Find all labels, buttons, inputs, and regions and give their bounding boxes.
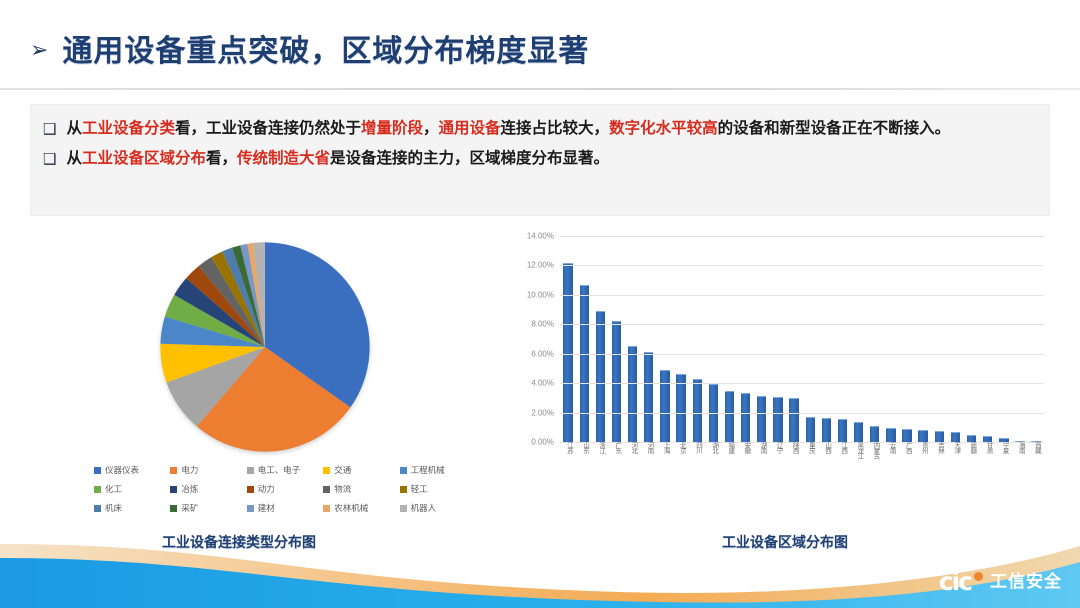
- bar-slot: [625, 236, 641, 442]
- legend-label: 化工: [105, 483, 122, 495]
- bar-slot: [673, 236, 689, 442]
- bar[interactable]: [628, 346, 637, 442]
- legend-swatch-icon: [400, 486, 407, 493]
- bar[interactable]: [741, 393, 750, 442]
- bullet-text: 从工业设备分类看，工业设备连接仍然处于增量阶段，通用设备连接占比较大，数字化水平…: [66, 117, 950, 141]
- legend-swatch-icon: [247, 467, 254, 474]
- gridline: 4.00%: [560, 383, 1044, 384]
- legend-swatch-icon: [323, 486, 330, 493]
- bar-slot: [818, 236, 834, 442]
- x-axis-tick-label: 黑龙江: [855, 442, 862, 464]
- x-axis-label-slot: 湖北: [705, 442, 721, 464]
- legend-label: 采矿: [181, 502, 198, 514]
- x-axis-tick-label: 天津: [952, 442, 959, 464]
- legend-label: 冶炼: [181, 483, 198, 495]
- bar-slot: [1028, 236, 1044, 442]
- bar-slot: [867, 236, 883, 442]
- x-axis-tick-label: 辽宁: [775, 442, 782, 464]
- bullet-highlight: 增量阶段: [361, 120, 423, 137]
- bar-slot: [964, 236, 980, 442]
- logo-name: 工信安全: [990, 573, 1062, 590]
- bullet-plain: 看，工业设备连接仍然处于: [175, 120, 361, 137]
- bullet-item: ❑从工业设备分类看，工业设备连接仍然处于增量阶段，通用设备连接占比较大，数字化水…: [43, 117, 1037, 141]
- x-axis-tick-label: 海南: [1017, 442, 1024, 464]
- legend-item[interactable]: 采矿: [170, 502, 244, 514]
- legend-label: 农林机械: [334, 502, 368, 514]
- bar-slot: [754, 236, 770, 442]
- legend-item[interactable]: 动力: [247, 483, 321, 495]
- x-axis-tick-label: 湖北: [710, 442, 717, 464]
- bar[interactable]: [838, 419, 847, 442]
- x-axis-label-slot: 辽宁: [770, 442, 786, 464]
- x-axis-tick-label: 湖南: [759, 442, 766, 464]
- logo-accent-dot: [974, 572, 983, 581]
- x-axis-tick-label: 山西: [823, 442, 830, 464]
- bullet-list: ❑从工业设备分类看，工业设备连接仍然处于增量阶段，通用设备连接占比较大，数字化水…: [43, 117, 1037, 172]
- legend-swatch-icon: [247, 505, 254, 512]
- legend-swatch-icon: [400, 505, 407, 512]
- legend-item[interactable]: 物流: [323, 483, 397, 495]
- x-axis-tick-label: 福建: [726, 442, 733, 464]
- legend-swatch-icon: [94, 486, 101, 493]
- x-axis-tick-label: 江西: [839, 442, 846, 464]
- legend-swatch-icon: [323, 467, 330, 474]
- bar-slot: [576, 236, 592, 442]
- bar-chart-plot: 0.00%2.00%4.00%6.00%8.00%10.00%12.00%14.…: [560, 236, 1044, 442]
- title-divider: [0, 88, 1080, 90]
- legend-item[interactable]: 建材: [247, 502, 321, 514]
- bar-slot: [915, 236, 931, 442]
- legend-label: 轻工: [411, 483, 428, 495]
- bar-slot: [770, 236, 786, 442]
- bar[interactable]: [757, 396, 766, 442]
- x-axis-label-slot: 天津: [947, 442, 963, 464]
- legend-item[interactable]: 化工: [94, 483, 168, 495]
- legend-item[interactable]: 机器人: [400, 502, 474, 514]
- bar-slot: [947, 236, 963, 442]
- bar-chart-panel: 0.00%2.00%4.00%6.00%8.00%10.00%12.00%14.…: [500, 224, 1050, 534]
- bar-slot: [560, 236, 576, 442]
- bar-slot: [721, 236, 737, 442]
- y-axis-tick-label: 10.00%: [527, 290, 554, 299]
- x-axis-label-slot: 广东: [608, 442, 624, 464]
- x-axis-label-slot: 江西: [834, 442, 850, 464]
- bar[interactable]: [822, 418, 831, 442]
- x-axis-label-slot: 新疆: [964, 442, 980, 464]
- bullet-plain: 是设备连接的主力，区域梯度分布显著。: [330, 150, 609, 167]
- y-axis-tick-label: 4.00%: [531, 379, 554, 388]
- y-axis-tick-label: 14.00%: [527, 232, 554, 241]
- x-axis-tick-label: 广东: [613, 442, 620, 464]
- legend-item[interactable]: 机床: [94, 502, 168, 514]
- pie-chart: [150, 238, 380, 456]
- x-axis-label-slot: 河北: [625, 442, 641, 464]
- bar-slot: [786, 236, 802, 442]
- x-axis-label-slot: 广西: [899, 442, 915, 464]
- bar-slot: [1012, 236, 1028, 442]
- x-axis-label-slot: 西藏: [1028, 442, 1044, 464]
- y-axis-tick-label: 0.00%: [531, 438, 554, 447]
- bullet-plain: 连接占比较大，: [501, 120, 610, 137]
- x-axis-label-slot: 安徽: [738, 442, 754, 464]
- bar-slot: [802, 236, 818, 442]
- legend-swatch-icon: [247, 486, 254, 493]
- x-axis-label-slot: 宁夏: [996, 442, 1012, 464]
- legend-swatch-icon: [170, 467, 177, 474]
- bar[interactable]: [596, 311, 605, 442]
- bar[interactable]: [886, 428, 895, 442]
- legend-label: 物流: [334, 483, 351, 495]
- brand-logo: cic 工信安全: [939, 569, 1062, 594]
- y-axis-tick-label: 6.00%: [531, 349, 554, 358]
- x-axis-label-slot: 山东: [576, 442, 592, 464]
- x-axis-label-slot: 陕西: [786, 442, 802, 464]
- bullet-highlight: 数字化水平较高: [609, 120, 718, 137]
- x-axis-label-slot: 上海: [657, 442, 673, 464]
- x-axis-label-slot: 甘肃: [980, 442, 996, 464]
- x-axis-tick-label: 浙江: [597, 442, 604, 464]
- bar-slot: [834, 236, 850, 442]
- bar-slot: [980, 236, 996, 442]
- bar-slot: [899, 236, 915, 442]
- legend-item[interactable]: 工程机械: [400, 464, 474, 476]
- gridline: 14.00%: [560, 236, 1044, 237]
- x-axis-label-slot: 贵州: [915, 442, 931, 464]
- legend-swatch-icon: [94, 505, 101, 512]
- bar[interactable]: [918, 430, 927, 442]
- legend-item[interactable]: 电工、电子: [247, 464, 321, 476]
- legend-label: 电力: [181, 464, 198, 476]
- x-axis-label-slot: 黑龙江: [851, 442, 867, 464]
- x-axis-label-slot: 内蒙古: [867, 442, 883, 464]
- legend-item[interactable]: 农林机械: [323, 502, 397, 514]
- bar-slot: [705, 236, 721, 442]
- bar-slot: [689, 236, 705, 442]
- x-axis-label-slot: 河南: [641, 442, 657, 464]
- bullet-marker-icon: ❑: [43, 148, 56, 171]
- bar[interactable]: [580, 285, 589, 442]
- y-axis-tick-label: 12.00%: [527, 261, 554, 270]
- bar[interactable]: [563, 263, 572, 443]
- legend-label: 建材: [258, 502, 275, 514]
- bar[interactable]: [967, 435, 976, 442]
- pie-chart-panel: 仪器仪表电力电工、电子交通工程机械化工冶炼动力物流轻工机床采矿建材农林机械机器人: [30, 224, 500, 534]
- bar[interactable]: [693, 379, 702, 442]
- bullet-item: ❑从工业设备区域分布看，传统制造大省是设备连接的主力，区域梯度分布显著。: [43, 147, 1037, 171]
- bullet-highlight: 通用设备: [439, 120, 501, 137]
- legend-label: 仪器仪表: [105, 464, 139, 476]
- page-title-text: 通用设备重点突破，区域分布梯度显著: [62, 26, 589, 70]
- x-axis-label-slot: 海南: [1012, 442, 1028, 464]
- x-axis-tick-label: 内蒙古: [871, 442, 878, 464]
- bar-slot: [931, 236, 947, 442]
- legend-swatch-icon: [323, 505, 330, 512]
- bullet-plain: 的设备和新型设备正在不断接入。: [718, 120, 951, 137]
- bar[interactable]: [660, 370, 669, 442]
- bar[interactable]: [806, 417, 815, 442]
- bar[interactable]: [951, 432, 960, 442]
- pie-chart-svg: [150, 238, 380, 456]
- legend-swatch-icon: [170, 505, 177, 512]
- x-axis-tick-label: 山东: [581, 442, 588, 464]
- bar-chart-x-axis: 江苏山东浙江广东河北河南上海北京四川湖北福建安徽湖南辽宁陕西重庆山西江西黑龙江内…: [560, 442, 1044, 464]
- gridline: 8.00%: [560, 324, 1044, 325]
- legend-item[interactable]: 交通: [323, 464, 397, 476]
- bar[interactable]: [612, 321, 621, 442]
- bar[interactable]: [773, 397, 782, 442]
- bullet-highlight: 传统制造大省: [237, 150, 330, 167]
- legend-label: 电工、电子: [258, 464, 301, 476]
- bar-slot: [883, 236, 899, 442]
- x-axis-label-slot: 北京: [673, 442, 689, 464]
- legend-label: 动力: [258, 483, 275, 495]
- x-axis-tick-label: 北京: [678, 442, 685, 464]
- bar-slot: [641, 236, 657, 442]
- summary-box: ❑从工业设备分类看，工业设备连接仍然处于增量阶段，通用设备连接占比较大，数字化水…: [30, 104, 1050, 216]
- y-axis-tick-label: 8.00%: [531, 320, 554, 329]
- bar-slot: [738, 236, 754, 442]
- legend-swatch-icon: [170, 486, 177, 493]
- legend-label: 交通: [334, 464, 351, 476]
- x-axis-label-slot: 福建: [721, 442, 737, 464]
- bullet-plain: ，: [423, 120, 439, 137]
- bar[interactable]: [644, 352, 653, 442]
- page-title: ➢ 通用设备重点突破，区域分布梯度显著: [30, 26, 589, 70]
- y-axis-tick-label: 2.00%: [531, 408, 554, 417]
- x-axis-tick-label: 云南: [888, 442, 895, 464]
- x-axis-tick-label: 贵州: [920, 442, 927, 464]
- bullet-plain: 看，: [206, 150, 237, 167]
- x-axis-tick-label: 上海: [662, 442, 669, 464]
- bar-slot: [996, 236, 1012, 442]
- bullet-highlight: 工业设备区域分布: [82, 150, 206, 167]
- legend-item[interactable]: 仪器仪表: [94, 464, 168, 476]
- bar[interactable]: [854, 422, 863, 442]
- x-axis-tick-label: 陕西: [791, 442, 798, 464]
- x-axis-tick-label: 安徽: [742, 442, 749, 464]
- legend-item[interactable]: 冶炼: [170, 483, 244, 495]
- charts-area: 仪器仪表电力电工、电子交通工程机械化工冶炼动力物流轻工机床采矿建材农林机械机器人…: [30, 224, 1050, 534]
- bullet-plain: 从: [66, 120, 82, 137]
- legend-item[interactable]: 电力: [170, 464, 244, 476]
- bar-slot: [592, 236, 608, 442]
- gridline: 6.00%: [560, 354, 1044, 355]
- bar[interactable]: [789, 398, 798, 442]
- x-axis-label-slot: 重庆: [802, 442, 818, 464]
- x-axis-label-slot: 湖南: [754, 442, 770, 464]
- logo-mark: cic: [939, 569, 971, 594]
- x-axis-tick-label: 新疆: [968, 442, 975, 464]
- x-axis-tick-label: 江苏: [565, 442, 572, 464]
- legend-swatch-icon: [400, 467, 407, 474]
- x-axis-tick-label: 宁夏: [1001, 442, 1008, 464]
- bullet-marker-icon: ❑: [43, 118, 56, 141]
- legend-label: 工程机械: [411, 464, 445, 476]
- bar-chart: 0.00%2.00%4.00%6.00%8.00%10.00%12.00%14.…: [510, 232, 1050, 464]
- bar[interactable]: [935, 431, 944, 442]
- bar-slot: [851, 236, 867, 442]
- x-axis-label-slot: 云南: [883, 442, 899, 464]
- bar[interactable]: [676, 374, 685, 442]
- bullet-plain: 从: [66, 150, 82, 167]
- x-axis-tick-label: 四川: [694, 442, 701, 464]
- gridline: 10.00%: [560, 295, 1044, 296]
- x-axis-tick-label: 河北: [629, 442, 636, 464]
- bullet-text: 从工业设备区域分布看，传统制造大省是设备连接的主力，区域梯度分布显著。: [66, 147, 609, 171]
- legend-item[interactable]: 轻工: [400, 483, 474, 495]
- x-axis-label-slot: 江苏: [560, 442, 576, 464]
- legend-label: 机床: [105, 502, 122, 514]
- pie-chart-legend: 仪器仪表电力电工、电子交通工程机械化工冶炼动力物流轻工机床采矿建材农林机械机器人: [94, 464, 474, 514]
- legend-swatch-icon: [94, 467, 101, 474]
- bullet-highlight: 工业设备分类: [82, 120, 175, 137]
- gridline: 12.00%: [560, 265, 1044, 266]
- title-arrow-icon: ➢: [30, 39, 48, 61]
- x-axis-tick-label: 河南: [646, 442, 653, 464]
- bar-slot: [657, 236, 673, 442]
- legend-label: 机器人: [411, 502, 437, 514]
- bar-series: [560, 236, 1044, 442]
- bar[interactable]: [870, 426, 879, 442]
- bar-slot: [608, 236, 624, 442]
- x-axis-tick-label: 广西: [904, 442, 911, 464]
- x-axis-label-slot: 山西: [818, 442, 834, 464]
- x-axis-label-slot: 四川: [689, 442, 705, 464]
- bar[interactable]: [725, 391, 734, 443]
- x-axis-tick-label: 吉林: [936, 442, 943, 464]
- x-axis-tick-label: 重庆: [807, 442, 814, 464]
- x-axis-tick-label: 甘肃: [984, 442, 991, 464]
- gridline: 2.00%: [560, 413, 1044, 414]
- x-axis-label-slot: 浙江: [592, 442, 608, 464]
- x-axis-label-slot: 吉林: [931, 442, 947, 464]
- bar[interactable]: [902, 429, 911, 442]
- x-axis-tick-label: 西藏: [1033, 442, 1040, 464]
- footer-decoration: [0, 536, 1080, 608]
